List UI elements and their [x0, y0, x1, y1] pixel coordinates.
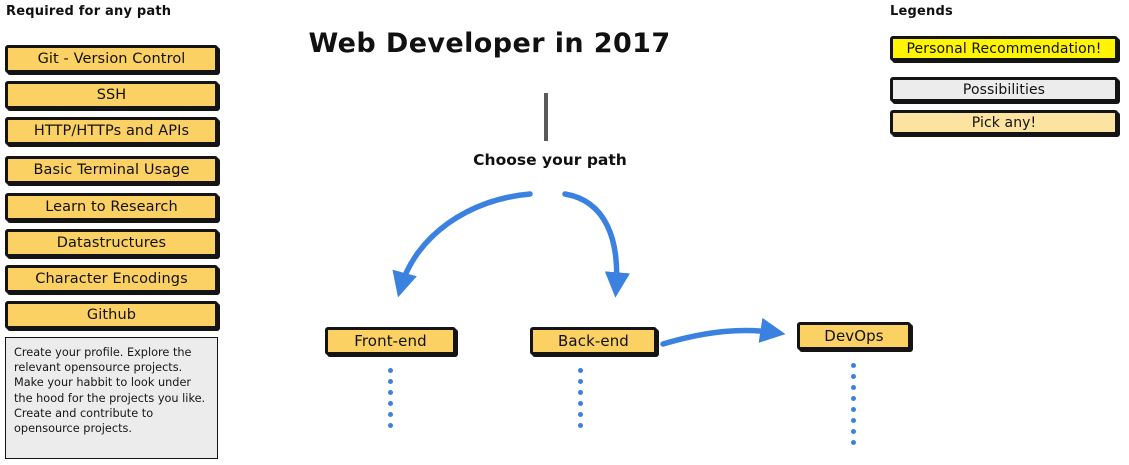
skill-box-ssh[interactable]: SSH: [5, 81, 218, 109]
dot: [388, 401, 393, 406]
dot: [388, 390, 393, 395]
legends-heading: Legends: [890, 4, 953, 19]
dots-front-end: [388, 368, 393, 428]
dots-back-end: [578, 368, 583, 428]
required-skills-heading: Required for any path: [6, 4, 171, 19]
node-front-end[interactable]: Front-end: [325, 327, 456, 355]
arrow-to-frontend: [400, 194, 530, 290]
dot: [388, 412, 393, 417]
legend-personal-recommendation: Personal Recommendation!: [890, 36, 1118, 61]
dot: [578, 401, 583, 406]
dot: [578, 368, 583, 373]
dot: [388, 379, 393, 384]
dot: [851, 396, 856, 401]
root-stem-line: [544, 93, 548, 141]
skill-box-character-encodings[interactable]: Character Encodings: [5, 265, 218, 293]
legends-panel: Legends Personal Recommendation! Possibi…: [889, 0, 1129, 160]
dot: [578, 423, 583, 428]
legend-pick-any: Pick any!: [890, 110, 1118, 135]
skill-box-github[interactable]: Github: [5, 301, 218, 329]
dot: [578, 390, 583, 395]
node-back-end[interactable]: Back-end: [530, 327, 657, 355]
dot: [388, 423, 393, 428]
github-description-note: Create your profile. Explore the relevan…: [5, 337, 218, 459]
dot: [851, 418, 856, 423]
dot: [851, 407, 856, 412]
skill-box-basic-terminal-usage[interactable]: Basic Terminal Usage: [5, 156, 218, 184]
dots-devops: [851, 363, 856, 445]
arrow-backend-to-devops: [663, 331, 778, 344]
dot: [851, 385, 856, 390]
dot: [851, 374, 856, 379]
choose-your-path-label: Choose your path: [400, 151, 700, 169]
dot: [851, 363, 856, 368]
arrow-to-backend: [565, 194, 617, 290]
dot: [578, 412, 583, 417]
node-devops[interactable]: DevOps: [797, 322, 911, 350]
required-skills-column: Required for any path Git - Version Cont…: [0, 0, 240, 465]
legend-possibilities: Possibilities: [890, 77, 1118, 102]
skill-box-datastructures[interactable]: Datastructures: [5, 229, 218, 257]
diagram-title-text: Web Developer in 2017: [308, 28, 670, 59]
skill-box-http-apis[interactable]: HTTP/HTTPs and APIs: [5, 117, 218, 145]
dot: [388, 368, 393, 373]
dot: [851, 429, 856, 434]
dot: [851, 440, 856, 445]
skill-box-learn-to-research[interactable]: Learn to Research: [5, 193, 218, 221]
dot: [578, 379, 583, 384]
